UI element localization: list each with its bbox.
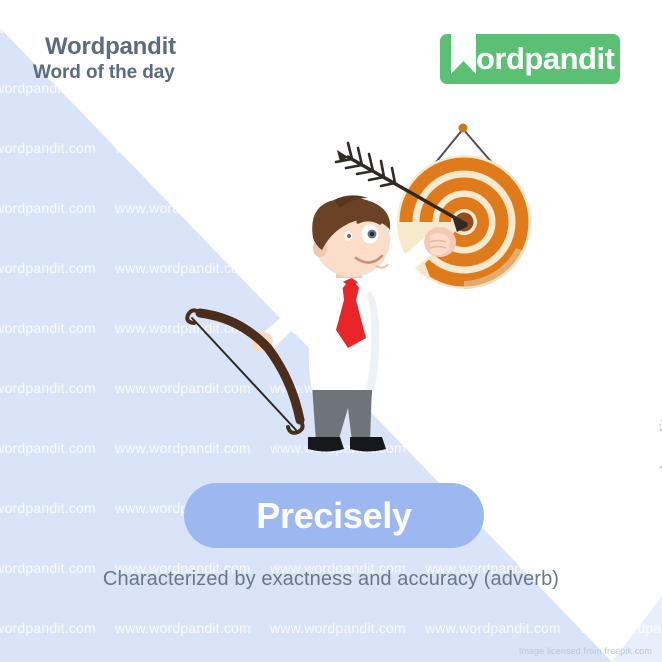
watermark-vertical: www.wordpandit.com xyxy=(658,381,662,543)
image-credit: Image licensed from freepik.com xyxy=(519,646,652,656)
background xyxy=(0,0,662,662)
bookmark-icon xyxy=(451,28,476,74)
word-term: Precisely xyxy=(256,498,411,534)
page-subtitle: Word of the day xyxy=(33,63,176,84)
wordpandit-logo[interactable]: ordpandit xyxy=(440,28,620,84)
page-title: Wordpandit xyxy=(45,34,176,61)
word-badge: Precisely xyxy=(184,483,484,548)
logo-text: ordpandit xyxy=(476,34,614,84)
word-definition: Characterized by exactness and accuracy … xyxy=(0,568,662,591)
background-shapes xyxy=(0,0,662,662)
word-of-the-day-poster: www.wordpandit.comwww.wordpandit.comwww.… xyxy=(0,0,662,662)
header-block: Wordpandit Word of the day xyxy=(45,34,176,84)
